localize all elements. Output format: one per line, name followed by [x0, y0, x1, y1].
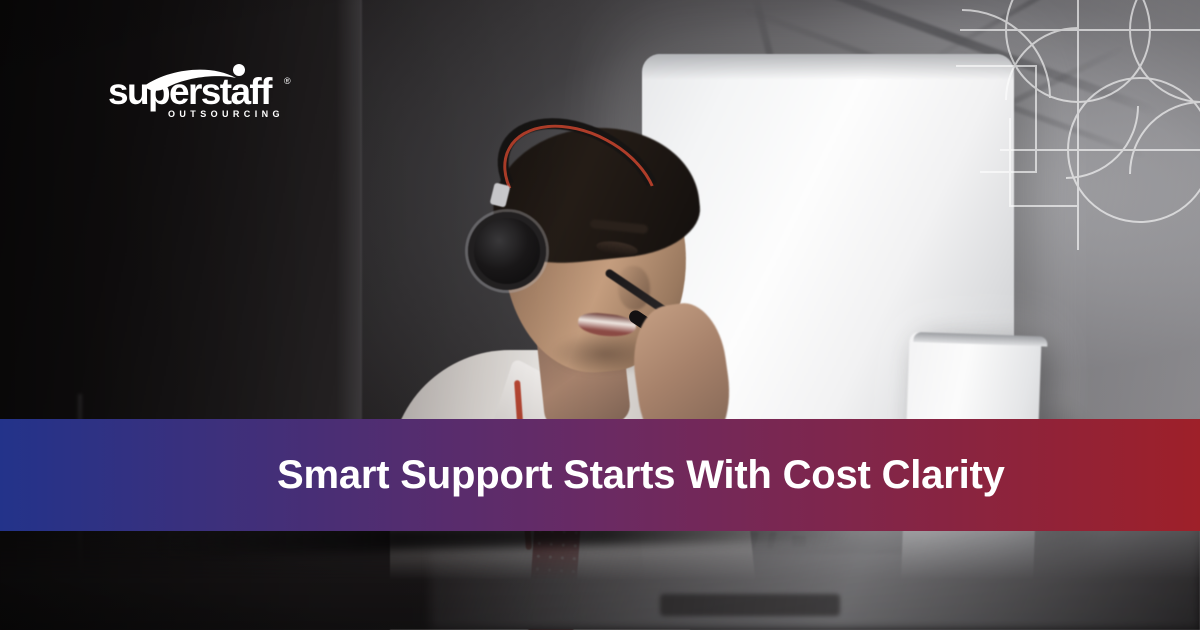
logo-wordmark: superstaff [108, 71, 273, 112]
banner-stage: superstaff ® OUTSOURCING Smart Support S… [0, 0, 1200, 630]
banner-title-text: Smart Support Starts With Cost Clarity [277, 455, 1005, 495]
headset-earcup [468, 212, 546, 290]
desk-object [660, 594, 840, 616]
title-banner: Smart Support Starts With Cost Clarity [0, 419, 1200, 531]
logo-trademark: ® [284, 76, 291, 86]
superstaff-logo[interactable]: superstaff ® OUTSOURCING [108, 62, 308, 122]
logo-tagline: OUTSOURCING [168, 109, 284, 119]
